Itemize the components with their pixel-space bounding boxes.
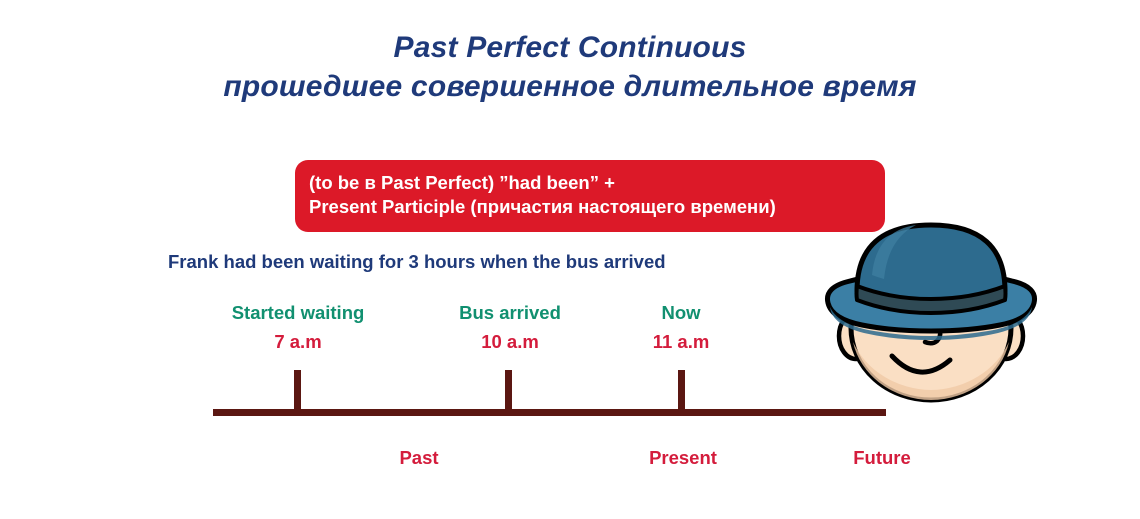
timeline-axis (213, 409, 886, 416)
timeline-tick-2 (505, 370, 512, 414)
slide-canvas: Past Perfect Continuous прошедшее соверш… (0, 0, 1140, 519)
boy-with-bowler-hat-icon (820, 193, 1065, 425)
title-russian: прошедшее совершенное длительное время (0, 70, 1140, 104)
formula-line-1: (to be в Past Perfect) ”had been” + (309, 171, 871, 195)
timeline-period-present: Present (649, 447, 717, 469)
timeline-tick-1 (294, 370, 301, 414)
boy-with-bowler-hat-illustration (820, 193, 1065, 425)
event-label: Now (653, 301, 710, 324)
event-time: 7 a.m (232, 330, 365, 353)
formula-box: (to be в Past Perfect) ”had been” + Pres… (295, 160, 885, 232)
page-title: Past Perfect Continuous прошедшее соверш… (0, 32, 1140, 104)
event-time: 10 a.m (459, 330, 561, 353)
title-english: Past Perfect Continuous (0, 32, 1140, 64)
timeline-event-now: Now 11 a.m (653, 301, 710, 353)
timeline-period-future: Future (853, 447, 911, 469)
timeline-event-started-waiting: Started waiting 7 a.m (232, 301, 365, 353)
timeline-period-past: Past (399, 447, 438, 469)
example-sentence: Frank had been waiting for 3 hours when … (168, 251, 666, 273)
timeline-tick-3 (678, 370, 685, 414)
formula-line-2: Present Participle (причастия настоящего… (309, 195, 871, 219)
event-label: Started waiting (232, 301, 365, 324)
event-time: 11 a.m (653, 330, 710, 353)
event-label: Bus arrived (459, 301, 561, 324)
timeline-event-bus-arrived: Bus arrived 10 a.m (459, 301, 561, 353)
